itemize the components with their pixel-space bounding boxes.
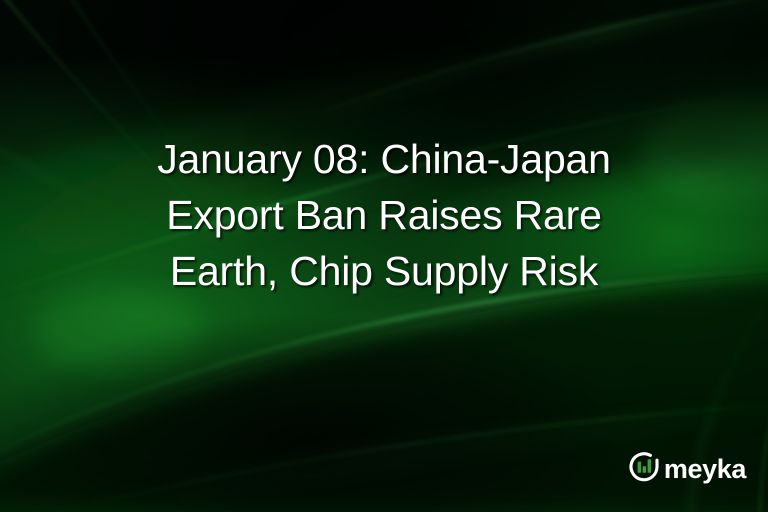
- news-thumbnail-card: January 08: China-Japan Export Ban Raise…: [0, 0, 768, 512]
- meyka-wordmark: meyka: [664, 456, 746, 483]
- meyka-logo[interactable]: meyka: [627, 450, 746, 489]
- headline-text: January 08: China-Japan Export Ban Raise…: [0, 131, 768, 299]
- meyka-bar-chart-circle-icon: [627, 450, 661, 489]
